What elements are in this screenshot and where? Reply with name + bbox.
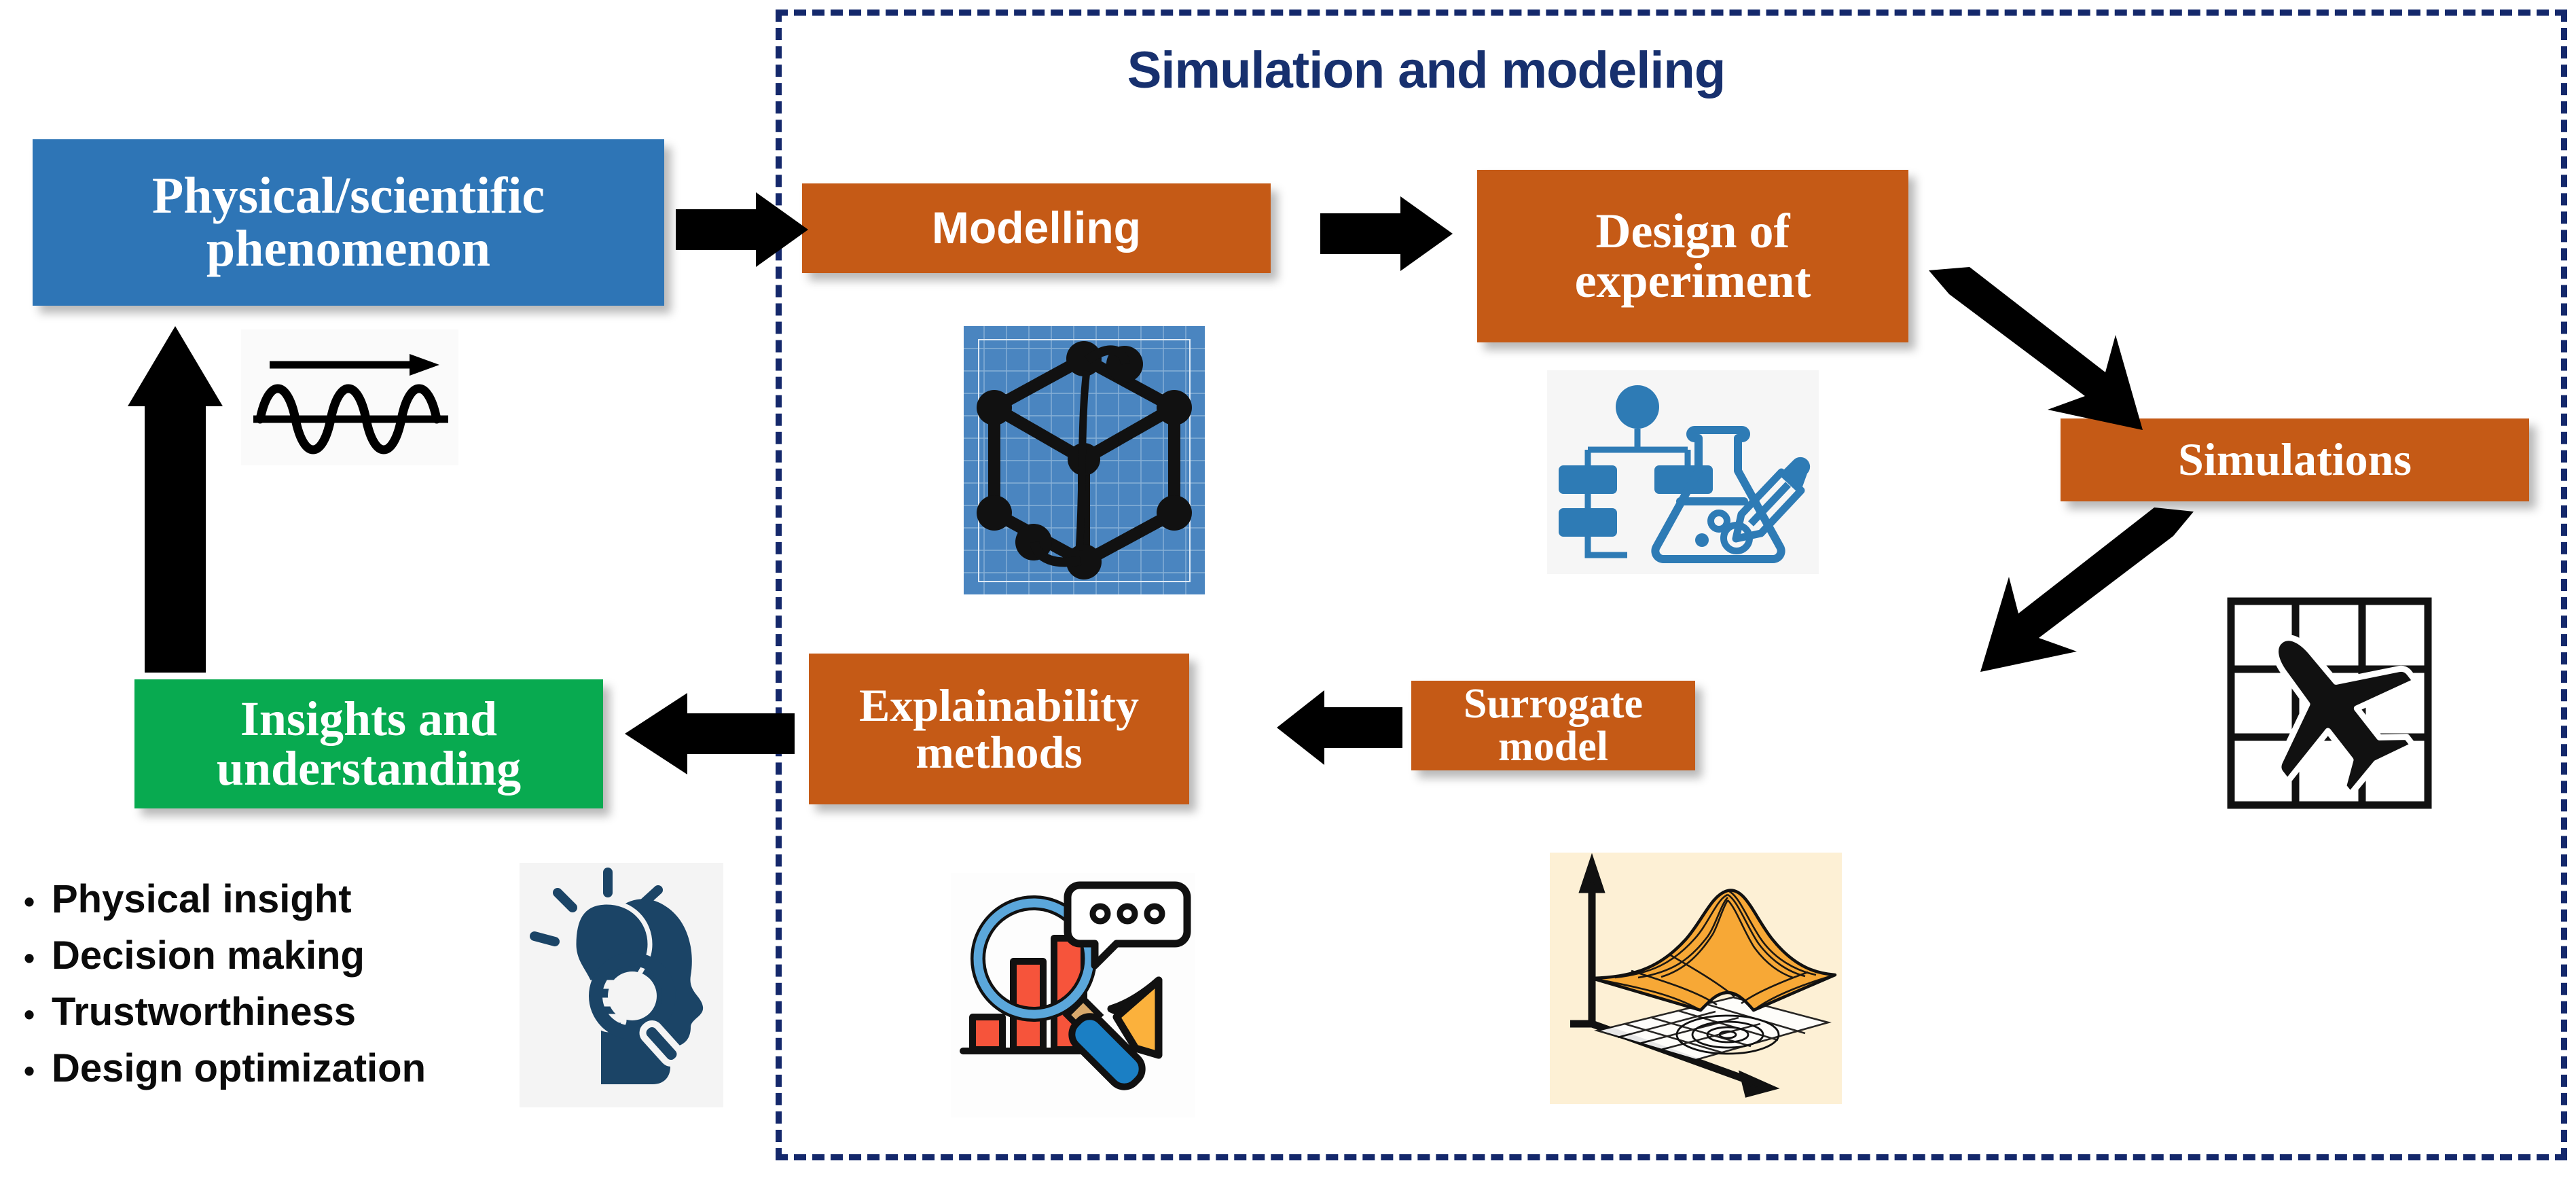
edge-insights-to-phenomenon-arrow — [128, 326, 223, 673]
edge-simulations-to-surrogate-arrow — [1976, 506, 2200, 683]
edge-modelling-to-doe-arrow — [1320, 196, 1453, 271]
node-label-line1: Design of — [1575, 207, 1811, 256]
wireframe-cube-blueprint-icon — [964, 326, 1205, 594]
node-insights-and-understanding[interactable]: Insights and understanding — [134, 679, 603, 808]
head-lightbulb-magnifier-icon — [520, 863, 723, 1107]
edge-surrogate-to-explainability-arrow — [1277, 690, 1402, 765]
list-item: • Decision making — [7, 933, 523, 978]
edge-explainability-to-insights-arrow — [625, 693, 795, 774]
node-label: Simulations — [2178, 436, 2412, 483]
group-title: Simulation and modeling — [951, 41, 1902, 100]
insights-bullet-list: • Physical insight • Decision making • T… — [7, 876, 523, 1102]
diagram-canvas: Simulation and modeling Physical/scienti… — [0, 0, 2576, 1195]
bullet-marker-icon: • — [7, 1052, 52, 1089]
list-item-label: Decision making — [52, 933, 365, 978]
node-label-line1: Insights and — [217, 694, 521, 744]
node-label-line1: Physical/scientific — [152, 170, 545, 223]
3d-surface-plot-icon — [1550, 853, 1842, 1104]
node-label-line2: understanding — [217, 744, 521, 793]
node-label-line2: methods — [859, 729, 1139, 776]
node-surrogate-model[interactable]: Surrogate model — [1411, 681, 1695, 770]
node-physical-scientific-phenomenon[interactable]: Physical/scientific phenomenon — [33, 139, 664, 306]
list-item-label: Design optimization — [52, 1046, 426, 1091]
list-item: • Design optimization — [7, 1046, 523, 1091]
magnifier-bar-chart-megaphone-icon — [951, 873, 1195, 1118]
list-item: • Physical insight — [7, 876, 523, 922]
airplane-mesh-grid-icon — [2214, 584, 2445, 822]
node-label: Modelling — [932, 205, 1141, 251]
bullet-marker-icon: • — [7, 883, 52, 920]
list-item: • Trustworthiness — [7, 989, 523, 1035]
node-design-of-experiment[interactable]: Design of experiment — [1477, 170, 1908, 342]
list-item-label: Physical insight — [52, 876, 352, 922]
bullet-marker-icon: • — [7, 996, 52, 1033]
node-label-line2: experiment — [1575, 256, 1811, 306]
edge-doe-to-simulations-arrow — [1922, 265, 2146, 435]
node-modelling[interactable]: Modelling — [802, 183, 1271, 273]
node-label-line1: Explainability — [859, 682, 1139, 729]
node-label: Surrogate model — [1411, 683, 1695, 768]
flowchart-flask-pencil-icon — [1547, 370, 1819, 574]
list-item-label: Trustworthiness — [52, 989, 356, 1035]
node-label-line2: phenomenon — [152, 223, 545, 276]
sine-wave-icon — [241, 329, 458, 465]
bullet-marker-icon: • — [7, 940, 52, 976]
node-explainability-methods[interactable]: Explainability methods — [809, 654, 1189, 804]
edge-phenomenon-to-modelling-arrow — [676, 192, 808, 267]
